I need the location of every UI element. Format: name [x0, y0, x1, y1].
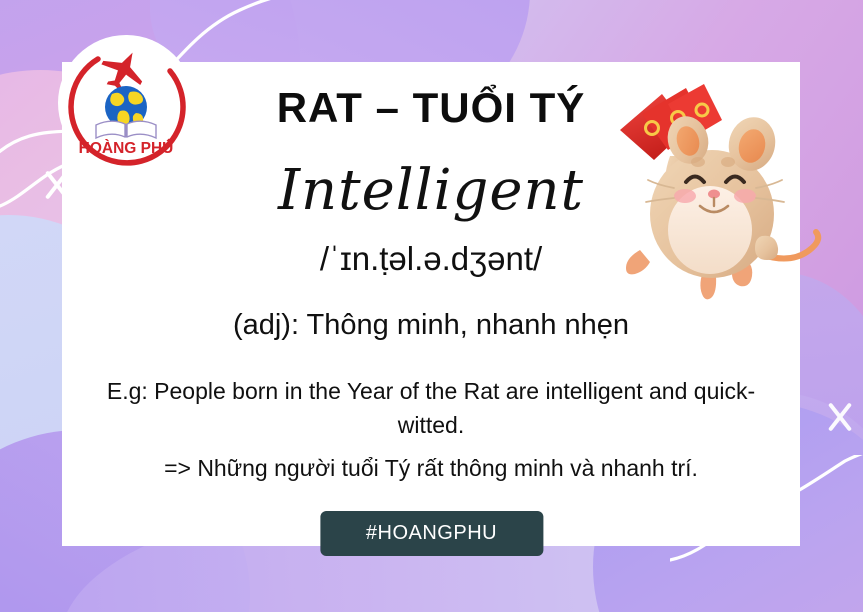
logo-graphic: HOÀNG PHÚ: [58, 35, 194, 171]
example-sentence: E.g: People born in the Year of the Rat …: [98, 374, 764, 442]
brand-logo[interactable]: HOÀNG PHÚ: [58, 35, 194, 171]
hashtag-button[interactable]: #HOANGPHU: [320, 511, 543, 556]
translation-text: => Những người tuổi Tý rất thông minh và…: [98, 452, 764, 484]
definition-text: (adj): Thông minh, nhanh nhẹn: [62, 309, 800, 342]
logo-text: HOÀNG PHÚ: [79, 139, 174, 157]
poster-canvas: HOÀNG PHÚ: [0, 0, 863, 612]
decor-cross-icon: [823, 400, 857, 434]
paw-shape: [755, 236, 778, 260]
rat-illustration: [600, 78, 832, 310]
